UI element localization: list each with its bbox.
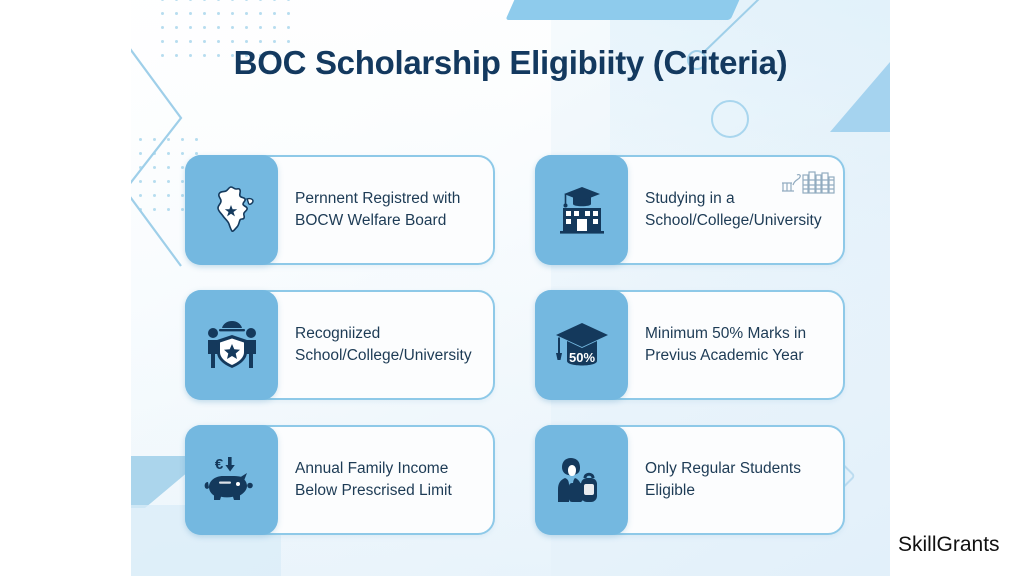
- page-title: BOC Scholarship Eligibiity (Criteria): [131, 44, 890, 82]
- criteria-card-line1: Recogniized: [295, 323, 472, 345]
- infographic-stage: BOC Scholarship Eligibiity (Criteria) Pe…: [0, 0, 1024, 576]
- school-building-graduation-cap-icon: [535, 155, 628, 265]
- criteria-card-line2: Eligible: [645, 480, 801, 502]
- icon-percent-label: 50%: [568, 350, 594, 365]
- criteria-card-recognized-institution[interactable]: Recogniized School/College/University: [185, 290, 495, 400]
- svg-text:€: €: [214, 456, 223, 473]
- criteria-card-text: Minimum 50% Marks in Previus Academic Ye…: [645, 323, 806, 367]
- criteria-card-line1: Annual Family Income: [295, 458, 452, 480]
- criteria-card-text: Recogniized School/College/University: [295, 323, 472, 367]
- graduation-cap-50-percent-icon: 50%: [535, 290, 628, 400]
- criteria-card-text: Annual Family Income Below Prescrised Li…: [295, 458, 452, 502]
- watermark-skillgrants: SkillGrants: [898, 533, 1000, 557]
- workers-shield-star-icon: [185, 290, 278, 400]
- criteria-card-permanent-registration[interactable]: Pernnent Registred with BOCW Welfare Boa…: [185, 155, 495, 265]
- criteria-card-line1: Only Regular Students: [645, 458, 801, 480]
- criteria-card-text: Pernnent Registred with BOCW Welfare Boa…: [295, 188, 460, 232]
- criteria-card-family-income[interactable]: € Annual Family Income Below Pres: [185, 425, 495, 535]
- criteria-card-text: Only Regular Students Eligible: [645, 458, 801, 502]
- content-panel: BOC Scholarship Eligibiity (Criteria) Pe…: [131, 0, 890, 576]
- circle-outline-decoration: [711, 100, 749, 138]
- criteria-card-regular-students[interactable]: Only Regular Students Eligible: [535, 425, 845, 535]
- student-backpack-icon: [535, 425, 628, 535]
- criteria-card-studying-institution[interactable]: Studying in a School/College/University: [535, 155, 845, 265]
- criteria-card-minimum-marks[interactable]: 50% Minimum 50% Marks in Previus Academi…: [535, 290, 845, 400]
- criteria-grid: Pernnent Registred with BOCW Welfare Boa…: [185, 155, 845, 535]
- criteria-card-line2: BOCW Welfare Board: [295, 210, 460, 232]
- criteria-card-line2: Previus Academic Year: [645, 345, 806, 367]
- criteria-card-line2: School/College/University: [645, 210, 822, 232]
- piggy-bank-euro-down-arrow-icon: €: [185, 425, 278, 535]
- campus-buildings-icon: [781, 169, 837, 202]
- india-map-star-icon: [185, 155, 278, 265]
- criteria-card-line2: School/College/University: [295, 345, 472, 367]
- criteria-card-line2: Below Prescrised Limit: [295, 480, 452, 502]
- criteria-card-line1: Minimum 50% Marks in: [645, 323, 806, 345]
- criteria-card-line1: Pernnent Registred with: [295, 188, 460, 210]
